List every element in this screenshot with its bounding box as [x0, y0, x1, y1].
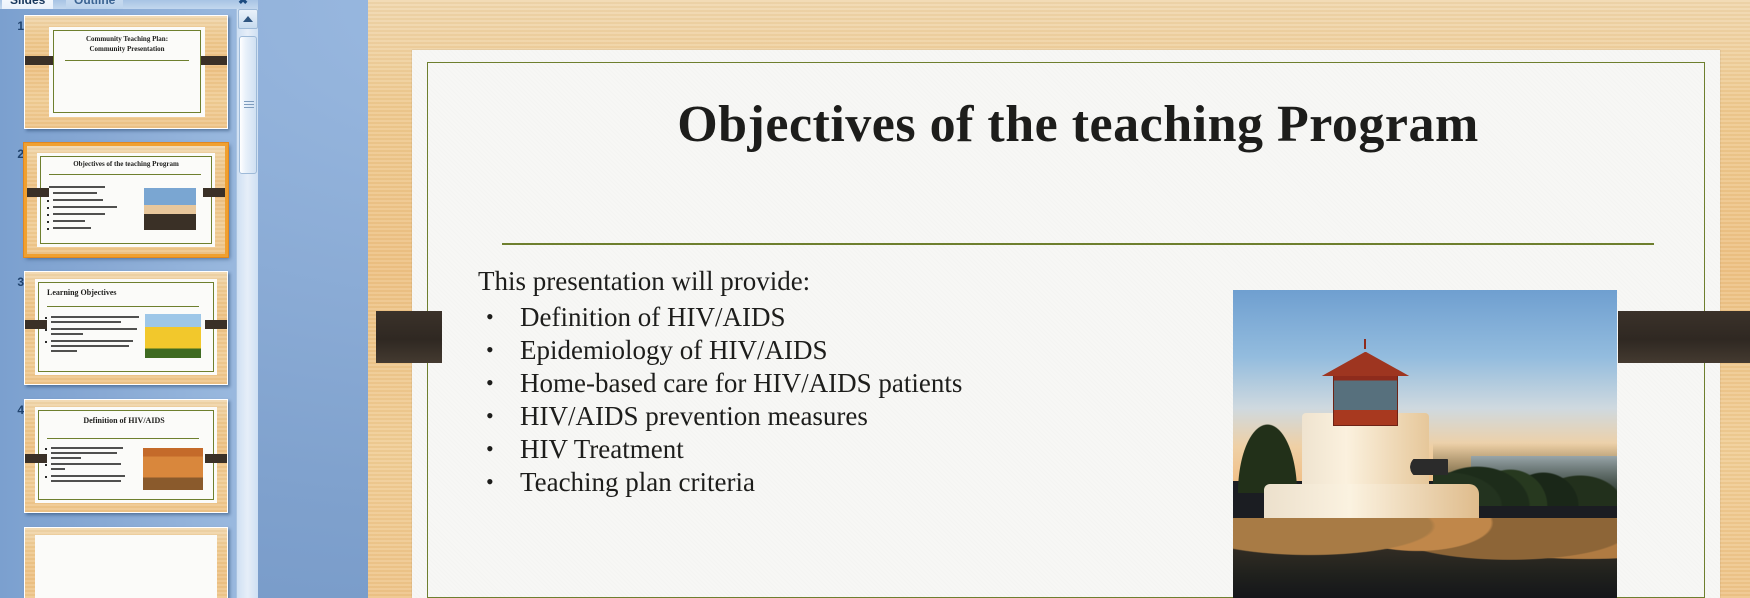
slide-number: 1	[6, 19, 24, 33]
slide-thumbnail-3[interactable]: Learning Objectives	[24, 271, 228, 385]
tab-slides[interactable]: Slides	[2, 0, 53, 9]
pane-tabstrip: Slides Outline ✖	[0, 0, 258, 9]
up-arrow-icon	[243, 16, 253, 22]
slide-thumbnail-1[interactable]: Community Teaching Plan: Community Prese…	[24, 15, 228, 129]
lighthouse-vents	[1410, 459, 1448, 474]
powerpoint-window: Slides Outline ✖ 1 Community Teaching Pl…	[0, 0, 1750, 598]
list-item[interactable]: 4 Definition of HIV/AIDS	[0, 399, 236, 525]
thumb-bar-right	[201, 56, 227, 65]
thumb-bar-left	[27, 188, 49, 197]
slide-body-placeholder[interactable]: This presentation will provide: Definiti…	[464, 266, 1164, 499]
thumb-rule	[47, 438, 199, 439]
scrollbar-thumb[interactable]	[239, 36, 257, 174]
thumb-bar-left	[25, 56, 53, 65]
thumb-bar-right	[205, 320, 227, 329]
thumb-title-line: Community Teaching Plan:	[57, 34, 197, 44]
slide-background: Objectives of the teaching Program This …	[368, 0, 1750, 598]
list-item[interactable]: 2 Objectives of the teaching Program	[0, 143, 236, 269]
thumb-rule	[47, 306, 199, 307]
close-icon[interactable]: ✖	[236, 0, 250, 7]
thumb-canvas: Learning Objectives	[25, 272, 227, 384]
thumb-bar-left	[25, 454, 47, 463]
grip-icon	[244, 101, 254, 109]
title-underline-rule	[502, 243, 1654, 245]
bullet-item: Definition of HIV/AIDS	[464, 301, 1164, 334]
thumbnail-pane-scrollbar[interactable]	[236, 9, 258, 598]
trees-left-region	[1233, 413, 1302, 493]
list-item[interactable]: 5	[0, 527, 236, 598]
slide-thumbnail-2[interactable]: Objectives of the teaching Program	[24, 143, 228, 257]
slide-decor-bar-left	[376, 311, 442, 363]
thumb-title: Learning Objectives	[47, 288, 197, 297]
bullet-item: HIV/AIDS prevention measures	[464, 400, 1164, 433]
slide-number: 2	[6, 147, 24, 161]
list-item[interactable]: 3 Learning Objectives	[0, 271, 236, 397]
slide-number: 4	[6, 403, 24, 417]
thumb-bar-right	[203, 188, 225, 197]
lighthouse-lantern	[1333, 370, 1398, 425]
thumb-canvas: Objectives of the teaching Program	[27, 146, 225, 254]
slide-editing-stage: Objectives of the teaching Program This …	[258, 0, 1750, 598]
thumb-bar-left	[25, 320, 47, 329]
slide-thumbnail-5[interactable]	[24, 527, 228, 598]
slide-thumbnail-4[interactable]: Definition of HIV/AIDS	[24, 399, 228, 513]
thumb-title: Definition of HIV/AIDS	[41, 416, 207, 425]
thumb-title: Objectives of the teaching Program	[43, 160, 209, 168]
slide-bullet-list: Definition of HIV/AIDS Epidemiology of H…	[464, 301, 1164, 499]
thumb-image	[145, 314, 201, 358]
slide-number: 3	[6, 275, 24, 289]
bullet-item: HIV Treatment	[464, 433, 1164, 466]
thumb-bar-right	[205, 454, 227, 463]
bullet-item: Home-based care for HIV/AIDS patients	[464, 367, 1164, 400]
thumb-title-line: Community Presentation	[57, 44, 197, 54]
slides-thumbnail-pane: Slides Outline ✖ 1 Community Teaching Pl…	[0, 0, 258, 598]
bullet-item: Epidemiology of HIV/AIDS	[464, 334, 1164, 367]
lighthouse-image[interactable]	[1233, 290, 1617, 598]
thumbnail-list: 1 Community Teaching Plan: Community Pre…	[0, 9, 236, 598]
rocks-region	[1233, 518, 1617, 598]
thumb-white	[35, 535, 217, 598]
lighthouse-spire	[1364, 339, 1366, 349]
thumb-canvas: Community Teaching Plan: Community Prese…	[25, 16, 227, 128]
thumb-image	[144, 188, 196, 230]
current-slide[interactable]: Objectives of the teaching Program This …	[368, 0, 1750, 598]
scroll-up-button[interactable]	[238, 9, 258, 29]
tab-outline[interactable]: Outline	[66, 0, 123, 9]
thumb-canvas: Definition of HIV/AIDS	[25, 400, 227, 512]
bullet-item: Teaching plan criteria	[464, 466, 1164, 499]
thumb-text-line	[49, 186, 105, 188]
body-lead-text: This presentation will provide:	[464, 266, 1164, 297]
slide-title[interactable]: Objectives of the teaching Program	[488, 95, 1668, 154]
thumb-canvas	[25, 528, 227, 598]
thumb-rule	[49, 174, 201, 175]
list-item[interactable]: 1 Community Teaching Plan: Community Pre…	[0, 15, 236, 141]
thumb-title: Community Teaching Plan: Community Prese…	[57, 34, 197, 54]
slide-decor-bar-right	[1618, 311, 1750, 363]
thumb-image	[143, 448, 203, 490]
thumb-rule	[65, 60, 189, 61]
